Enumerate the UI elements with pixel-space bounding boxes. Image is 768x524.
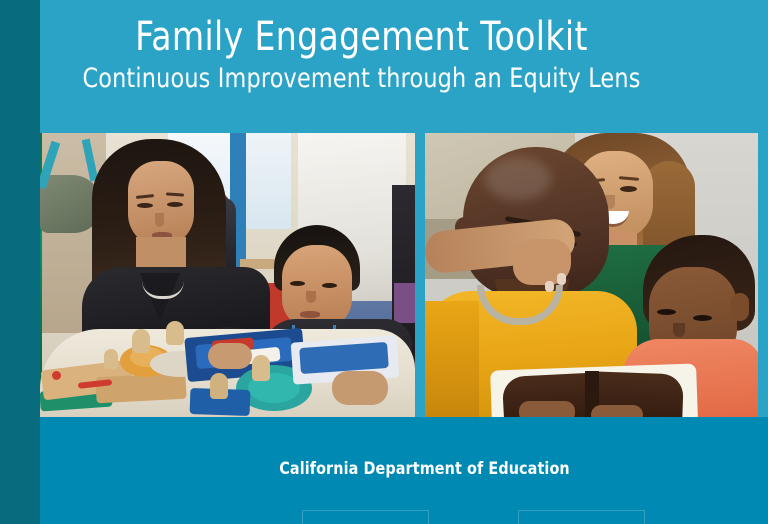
background-purple-item xyxy=(394,283,415,323)
son-nose xyxy=(673,323,685,337)
boy-eye-left xyxy=(290,281,305,286)
father-head-highlight xyxy=(485,157,551,201)
father-hand-right xyxy=(591,405,643,417)
boy-hand xyxy=(332,371,388,405)
classroom-window-2 xyxy=(245,133,291,229)
photo-family-reading xyxy=(425,133,758,417)
publisher-line: California Department of Education xyxy=(0,459,768,479)
boy-eye-right xyxy=(322,283,337,288)
toy-peg-4 xyxy=(252,355,270,381)
publisher-name: California Department of Education xyxy=(280,459,570,479)
classroom-scene xyxy=(0,133,415,417)
toy-wooden-board-2 xyxy=(95,373,186,404)
toy-peg-2 xyxy=(166,321,184,345)
woman-eye-right xyxy=(167,202,183,207)
toy-peg-5 xyxy=(210,373,228,399)
mother-eye-right xyxy=(620,186,637,192)
woman-eye-left xyxy=(137,203,153,208)
woman-nose xyxy=(155,213,164,227)
son-eye-left xyxy=(657,309,676,315)
page-title: Family Engagement Toolkit xyxy=(29,14,694,60)
left-accent-bar xyxy=(0,0,40,524)
son-eye-right xyxy=(693,315,712,321)
mother-fingernail-1 xyxy=(557,273,566,285)
woman-hand xyxy=(208,343,252,369)
toy-peg-3 xyxy=(104,349,118,369)
photo-classroom xyxy=(0,133,415,417)
family-reading-scene xyxy=(425,133,758,417)
mother-fingernail-2 xyxy=(545,281,554,292)
toy-peg-1 xyxy=(132,329,150,353)
title-block: Family Engagement Toolkit Continuous Imp… xyxy=(0,14,768,96)
toy-red-knob xyxy=(52,371,61,380)
boy-mouth xyxy=(300,311,320,318)
page-subtitle: Continuous Improvement through an Equity… xyxy=(29,62,694,96)
son-ear xyxy=(731,293,749,321)
cover-page: Family Engagement Toolkit Continuous Imp… xyxy=(0,0,768,524)
father-hand-left xyxy=(519,401,575,417)
father-shoulder xyxy=(425,301,479,417)
boy-nose xyxy=(306,291,316,303)
